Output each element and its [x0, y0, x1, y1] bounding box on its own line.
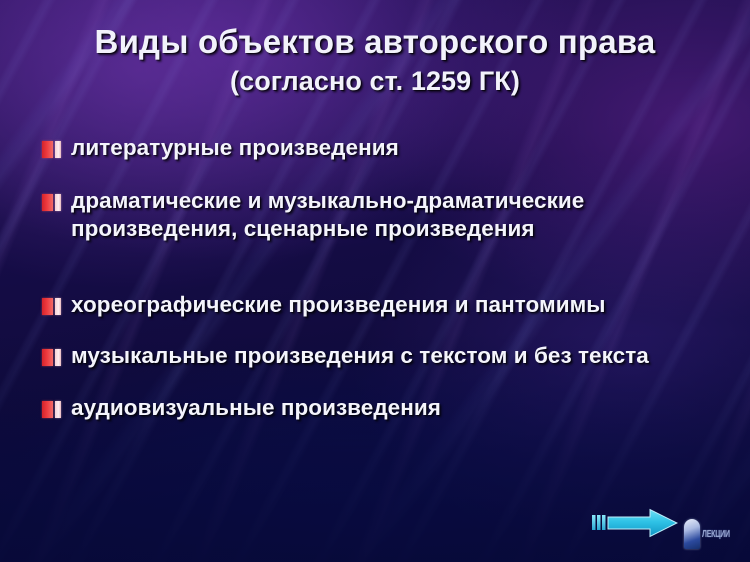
title-block: Виды объектов авторского права (согласно…: [0, 24, 750, 97]
bullet-marker-icon: [40, 349, 63, 366]
watermark-text: ЛЕКЦИИ: [702, 529, 730, 540]
next-slide-arrow-button[interactable]: [592, 508, 678, 538]
bullet-item: хореографические произведения и пантомим…: [40, 291, 712, 320]
bullet-item: литературные произведения: [40, 134, 712, 163]
arrow-right-icon[interactable]: [592, 508, 678, 538]
bullet-text: музыкальные произведения с текстом и без…: [71, 342, 649, 371]
bullet-list: литературные произведения драматические …: [40, 134, 712, 422]
bullet-text: драматические и музыкально-драматические…: [71, 187, 712, 244]
bullet-text: хореографические произведения и пантомим…: [71, 291, 606, 320]
three-bars-icon: [592, 515, 606, 530]
bullet-item: драматические и музыкально-драматические…: [40, 187, 712, 244]
bullet-item: аудиовизуальные произведения: [40, 394, 712, 423]
slide-title: Виды объектов авторского права: [0, 24, 750, 61]
bullet-text: литературные произведения: [71, 134, 399, 163]
bullet-item: музыкальные произведения с текстом и без…: [40, 342, 712, 371]
bullet-text: аудиовизуальные произведения: [71, 394, 441, 423]
bullet-marker-icon: [40, 194, 63, 211]
watermark-logo: ЛЕКЦИИ: [684, 512, 746, 556]
presentation-slide: Виды объектов авторского права (согласно…: [0, 0, 750, 562]
slide-subtitle: (согласно ст. 1259 ГК): [0, 66, 750, 97]
bullet-marker-icon: [40, 401, 63, 418]
shield-emblem-icon: [684, 519, 700, 549]
bullet-marker-icon: [40, 298, 63, 315]
bullet-marker-icon: [40, 141, 63, 158]
